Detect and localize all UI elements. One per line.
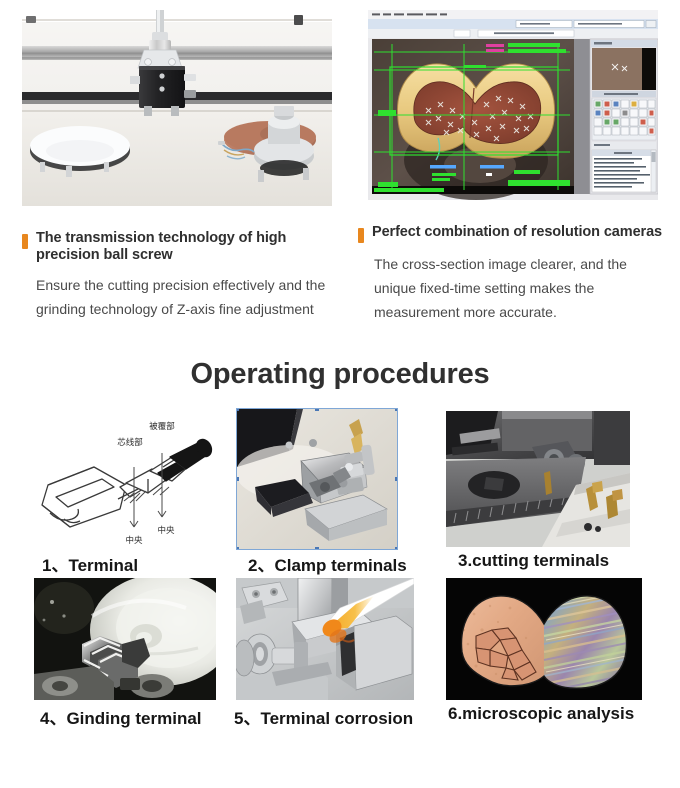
operating-procedures-grid: 被覆部 芯线部 中央 中央 1、Terminal <box>0 409 680 729</box>
grinding-terminal-illustration <box>34 578 216 700</box>
procedure-image-wrap <box>440 576 680 702</box>
grinding-terminal-photo <box>34 578 216 700</box>
terminal-corrosion-photo <box>236 578 414 700</box>
accent-bar-icon <box>22 234 28 249</box>
procedure-item-microscopic-analysis: 6.microscopic analysis <box>440 576 680 729</box>
diagram-label-chuou-1: 中央 <box>125 535 143 546</box>
accent-bar-icon <box>358 228 364 243</box>
selection-handle[interactable] <box>395 477 398 481</box>
selection-handle[interactable] <box>395 547 398 550</box>
selection-handle[interactable] <box>236 477 239 481</box>
procedure-caption: 4、Ginding terminal <box>12 704 226 729</box>
feature-card-resolution-cameras: Perfect combination of resolution camera… <box>340 10 680 324</box>
procedure-caption: 3.cutting terminals <box>440 551 680 571</box>
clamp-terminals-photo[interactable] <box>236 408 398 550</box>
procedure-caption: 2、Clamp terminals <box>226 551 440 576</box>
clamp-terminals-illustration <box>237 409 397 549</box>
procedure-image-wrap <box>12 576 226 702</box>
feature-card-ball-screw: The transmission technology of high prec… <box>0 10 340 324</box>
procedure-image-wrap <box>440 409 680 549</box>
selection-handle[interactable] <box>315 547 319 550</box>
procedure-image-wrap: 被覆部 芯线部 中央 中央 <box>12 409 226 549</box>
procedure-item-terminal-corrosion: 5、Terminal corrosion <box>226 576 440 729</box>
diagram-label-chuou-2: 中央 <box>157 525 175 536</box>
feature-title: The transmission technology of high prec… <box>36 230 328 264</box>
procedure-caption: 1、Terminal <box>12 551 226 576</box>
selection-handle[interactable] <box>236 547 239 550</box>
procedure-image-wrap <box>226 409 440 549</box>
feature-title: Perfect combination of resolution camera… <box>372 224 662 241</box>
feature-heading-ball-screw: The transmission technology of high prec… <box>22 230 328 264</box>
cutting-terminals-illustration <box>446 411 630 547</box>
machine-z-axis-photo <box>22 10 332 206</box>
procedure-item-grinding-terminal: 4、Ginding terminal <box>12 576 226 729</box>
page-title: Operating procedures <box>0 358 680 391</box>
diagram-label-hifukubu: 被覆部 <box>149 421 175 432</box>
features-section: The transmission technology of high prec… <box>0 0 680 324</box>
terminal-line-drawing: 被覆部 芯线部 中央 中央 <box>30 409 216 549</box>
diagram-label-shisenbu: 芯线部 <box>117 437 143 448</box>
microscopic-analysis-illustration <box>446 578 642 700</box>
machine-z-axis-illustration <box>22 10 332 206</box>
procedure-caption: 5、Terminal corrosion <box>226 704 440 729</box>
procedure-item-terminal: 被覆部 芯线部 中央 中央 1、Terminal <box>12 409 226 576</box>
microscopic-analysis-photo <box>446 578 642 700</box>
procedure-caption: 6.microscopic analysis <box>440 704 680 724</box>
selection-handle[interactable] <box>315 408 319 411</box>
feature-heading-resolution-cameras: Perfect combination of resolution camera… <box>358 224 666 243</box>
terminal-corrosion-illustration <box>236 578 414 700</box>
selection-handle[interactable] <box>236 408 239 411</box>
feature-body: The cross-section image clearer, and the… <box>374 252 666 324</box>
procedure-item-clamp-terminals: 2、Clamp terminals <box>226 409 440 576</box>
cutting-terminals-photo <box>446 411 630 547</box>
terminal-diagram: 被覆部 芯线部 中央 中央 <box>30 409 216 549</box>
feature-body: Ensure the cutting precision effectively… <box>36 273 328 321</box>
selection-handle[interactable] <box>395 408 398 411</box>
measurement-software-illustration <box>368 10 658 200</box>
procedure-item-cutting-terminals: 3.cutting terminals <box>440 409 680 576</box>
measurement-software-screenshot <box>368 10 658 200</box>
procedure-image-wrap <box>226 576 440 702</box>
